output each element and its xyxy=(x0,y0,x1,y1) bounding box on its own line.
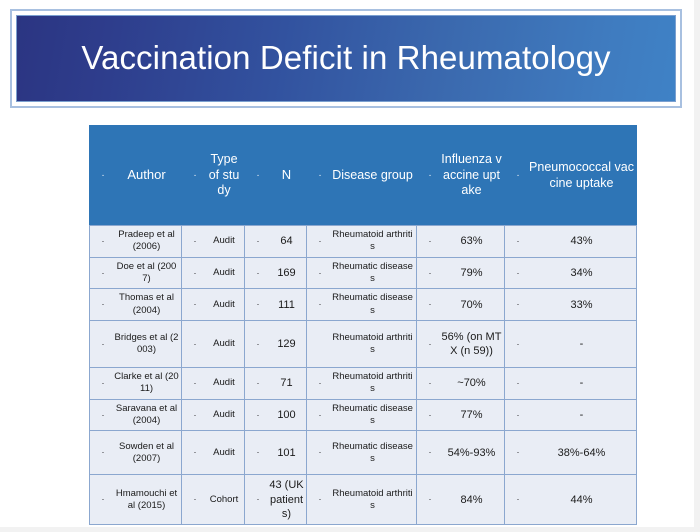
bullet-icon: · xyxy=(247,340,269,349)
cell-influenza: ·63% xyxy=(417,226,505,258)
bullet-icon: · xyxy=(309,269,331,278)
bullet-icon: · xyxy=(184,411,206,420)
bullet-icon: · xyxy=(507,495,529,504)
cell-disease: ·Rheumatoid arthritis xyxy=(307,368,417,400)
table-row: ·Clarke et al (2011) ·Audit ·71 ·Rheumat… xyxy=(90,368,637,400)
column-header-pneumococcal-vaccine-uptake: · Pneumococcal vaccine uptake xyxy=(505,126,637,226)
cell-pneumococcal: ·44% xyxy=(505,475,637,525)
cell-type: ·Audit xyxy=(182,226,245,258)
bullet-icon: · xyxy=(92,300,114,309)
cell-n: ·100 xyxy=(245,399,307,431)
cell-disease: ·Rheumatic diseases xyxy=(307,431,417,475)
bullet-icon: · xyxy=(309,379,331,388)
bullet-icon: · xyxy=(184,340,206,349)
bullet-icon: · xyxy=(309,300,331,309)
cell-author: ·Hmamouchi et al (2015) xyxy=(90,475,182,525)
bullet-icon: · xyxy=(92,171,114,181)
column-header-n: · N xyxy=(245,126,307,226)
cell-pneumococcal: ·- xyxy=(505,321,637,368)
cell-author: ·Bridges et al (2003) xyxy=(90,321,182,368)
bullet-icon: · xyxy=(309,411,331,420)
bullet-icon: · xyxy=(92,448,114,457)
table-row: ·Bridges et al (2003) ·Audit ·129 ·Rheum… xyxy=(90,321,637,368)
bullet-icon: · xyxy=(92,411,114,420)
bullet-icon: · xyxy=(184,379,206,388)
cell-influenza: ·~70% xyxy=(417,368,505,400)
bullet-icon: · xyxy=(507,340,529,349)
slide-title-banner: Vaccination Deficit in Rheumatology xyxy=(16,15,676,102)
bullet-icon: · xyxy=(92,269,114,278)
bullet-icon: · xyxy=(419,171,441,181)
cell-author: ·Doe et al (2007) xyxy=(90,257,182,289)
cell-n: ·129 xyxy=(245,321,307,368)
bullet-icon: · xyxy=(419,495,441,504)
table-row: ·Saravana et al (2004) ·Audit ·100 ·Rheu… xyxy=(90,399,637,431)
bullet-icon: · xyxy=(247,379,269,388)
cell-type: ·Audit xyxy=(182,289,245,321)
cell-pneumococcal: ·33% xyxy=(505,289,637,321)
bullet-icon: · xyxy=(247,237,269,246)
cell-influenza: ·54%-93% xyxy=(417,431,505,475)
table-header: · Author · Type of study · N xyxy=(90,126,637,226)
table-header-row: · Author · Type of study · N xyxy=(90,126,637,226)
cell-pneumococcal: ·34% xyxy=(505,257,637,289)
cell-type: ·Audit xyxy=(182,431,245,475)
cell-disease: ·Rheumatic diseases xyxy=(307,399,417,431)
bullet-icon: · xyxy=(419,269,441,278)
bullet-icon: · xyxy=(184,448,206,457)
cell-influenza: ·77% xyxy=(417,399,505,431)
bullet-icon: · xyxy=(419,300,441,309)
study-comparison-table: · Author · Type of study · N xyxy=(89,125,636,525)
cell-type: ·Cohort xyxy=(182,475,245,525)
slide-edge-bottom xyxy=(0,527,700,532)
cell-author: ·Clarke et al (2011) xyxy=(90,368,182,400)
cell-n: ·71 xyxy=(245,368,307,400)
cell-author: ·Thomas et al (2004) xyxy=(90,289,182,321)
table-body: ·Pradeep et al (2006) ·Audit ·64 ·Rheuma… xyxy=(90,226,637,525)
cell-author: ·Pradeep et al (2006) xyxy=(90,226,182,258)
bullet-icon: · xyxy=(507,269,529,278)
bullet-icon: · xyxy=(419,411,441,420)
cell-n: ·43 (UK patients) xyxy=(245,475,307,525)
cell-disease: ·Rheumatoid arthritis xyxy=(307,475,417,525)
bullet-icon: · xyxy=(184,237,206,246)
cell-type: ·Audit xyxy=(182,399,245,431)
bullet-icon: · xyxy=(92,495,114,504)
bullet-icon: · xyxy=(419,237,441,246)
bullet-icon: · xyxy=(247,171,269,181)
cell-author: ·Saravana et al (2004) xyxy=(90,399,182,431)
cell-n: ·111 xyxy=(245,289,307,321)
bullet-icon: · xyxy=(419,448,441,457)
bullet-icon: · xyxy=(507,171,529,181)
bullet-icon: · xyxy=(184,300,206,309)
cell-author: ·Sowden et al (2007) xyxy=(90,431,182,475)
table-row: ·Pradeep et al (2006) ·Audit ·64 ·Rheuma… xyxy=(90,226,637,258)
bullet-icon: · xyxy=(309,171,331,181)
slide-edge-right xyxy=(694,0,700,532)
bullet-icon: · xyxy=(419,340,441,349)
bullet-icon: · xyxy=(184,171,206,181)
bullet-icon: · xyxy=(419,379,441,388)
table-row: ·Sowden et al (2007) ·Audit ·101 ·Rheuma… xyxy=(90,431,637,475)
slide-title-frame: Vaccination Deficit in Rheumatology xyxy=(10,9,682,108)
cell-disease: ·Rheumatic diseases xyxy=(307,289,417,321)
bullet-icon: · xyxy=(507,379,529,388)
bullet-icon: · xyxy=(247,411,269,420)
cell-n: ·169 xyxy=(245,257,307,289)
cell-n: ·101 xyxy=(245,431,307,475)
cell-type: ·Audit xyxy=(182,368,245,400)
bullet-icon: · xyxy=(309,237,331,246)
bullet-icon: · xyxy=(184,495,206,504)
bullet-icon: · xyxy=(92,340,114,349)
column-header-disease-group: · Disease group xyxy=(307,126,417,226)
cell-pneumococcal: ·- xyxy=(505,399,637,431)
bullet-icon: · xyxy=(309,448,331,457)
bullet-icon: · xyxy=(507,300,529,309)
page-title: Vaccination Deficit in Rheumatology xyxy=(81,40,610,76)
cell-disease: ·Rheumatoid arthritis xyxy=(307,321,417,368)
column-header-influenza-vaccine-uptake: · Influenza vaccine uptake xyxy=(417,126,505,226)
cell-n: ·64 xyxy=(245,226,307,258)
bullet-icon: · xyxy=(507,237,529,246)
cell-disease: ·Rheumatoid arthritis xyxy=(307,226,417,258)
bullet-icon: · xyxy=(507,411,529,420)
cell-disease: ·Rheumatic diseases xyxy=(307,257,417,289)
cell-influenza: ·84% xyxy=(417,475,505,525)
bullet-icon: · xyxy=(247,448,269,457)
bullet-icon: · xyxy=(247,300,269,309)
table: · Author · Type of study · N xyxy=(89,125,637,525)
cell-type: ·Audit xyxy=(182,257,245,289)
column-header-author: · Author xyxy=(90,126,182,226)
cell-influenza: ·79% xyxy=(417,257,505,289)
bullet-icon: · xyxy=(92,379,114,388)
bullet-icon: · xyxy=(184,269,206,278)
bullet-icon: · xyxy=(507,448,529,457)
table-row: ·Hmamouchi et al (2015) ·Cohort ·43 (UK … xyxy=(90,475,637,525)
bullet-icon: · xyxy=(247,495,269,504)
cell-influenza: ·70% xyxy=(417,289,505,321)
bullet-icon: · xyxy=(309,495,331,504)
cell-type: ·Audit xyxy=(182,321,245,368)
cell-pneumococcal: ·43% xyxy=(505,226,637,258)
cell-pneumococcal: ·38%-64% xyxy=(505,431,637,475)
bullet-icon: · xyxy=(92,237,114,246)
bullet-icon: · xyxy=(247,269,269,278)
presentation-slide: Vaccination Deficit in Rheumatology · Au… xyxy=(0,0,700,532)
cell-pneumococcal: ·- xyxy=(505,368,637,400)
column-header-type-of-study: · Type of study xyxy=(182,126,245,226)
table-row: ·Thomas et al (2004) ·Audit ·111 ·Rheuma… xyxy=(90,289,637,321)
cell-influenza: ·56% (on MTX (n 59)) xyxy=(417,321,505,368)
table-row: ·Doe et al (2007) ·Audit ·169 ·Rheumatic… xyxy=(90,257,637,289)
